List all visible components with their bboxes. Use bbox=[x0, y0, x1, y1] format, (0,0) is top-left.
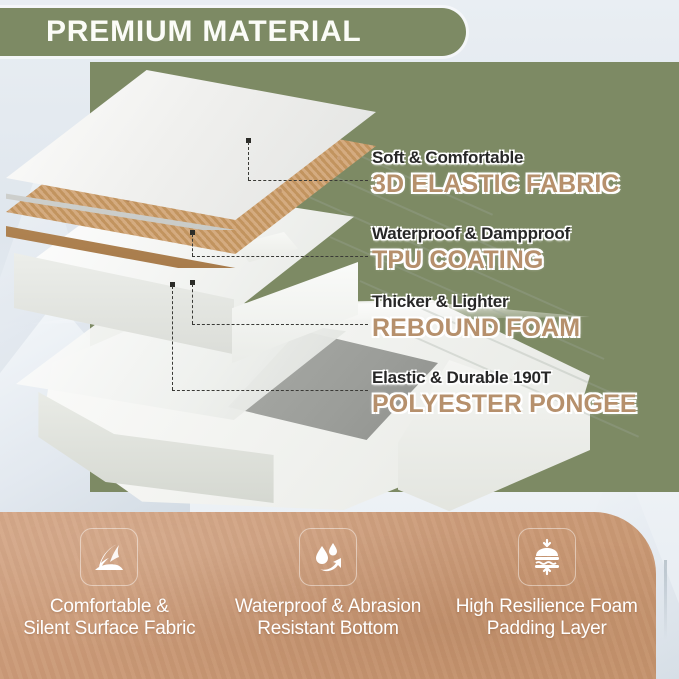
callout-rebound-foam: Thicker & Lighter REBOUND FOAM bbox=[372, 292, 580, 343]
foam-layer-icon bbox=[527, 537, 567, 577]
callout-title: REBOUND FOAM bbox=[372, 314, 580, 343]
leader-line-horizontal bbox=[172, 390, 368, 391]
feature-label: Comfortable & Silent Surface Fabric bbox=[23, 596, 195, 641]
callout-subtitle: Elastic & Durable 190T bbox=[372, 368, 637, 388]
callout-polyester-pongee: Elastic & Durable 190T POLYESTER PONGEE bbox=[372, 368, 637, 419]
feature-item-comfortable-fabric: Comfortable & Silent Surface Fabric bbox=[0, 528, 219, 678]
callout-title: TPU COATING bbox=[372, 246, 570, 275]
leader-line-horizontal bbox=[248, 180, 368, 181]
callout-title: POLYESTER PONGEE bbox=[372, 390, 637, 419]
callout-subtitle: Waterproof & Dampproof bbox=[372, 224, 570, 244]
callout-subtitle: Soft & Comfortable bbox=[372, 148, 620, 168]
leader-line-horizontal bbox=[192, 324, 368, 325]
feature-label: Waterproof & Abrasion Resistant Bottom bbox=[235, 596, 421, 641]
product-infographic: PREMIUM MATERIAL Soft & Comfortable 3D E… bbox=[0, 0, 679, 679]
page-title: PREMIUM MATERIAL bbox=[46, 14, 456, 50]
callout-tpu-coating: Waterproof & Dampproof TPU COATING bbox=[372, 224, 570, 275]
feature-icon-frame bbox=[518, 528, 576, 586]
feature-item-resilience-foam: High Resilience Foam Padding Layer bbox=[437, 528, 656, 678]
feature-list: Comfortable & Silent Surface Fabric Wate… bbox=[0, 528, 656, 678]
leader-line-horizontal bbox=[192, 256, 368, 257]
feature-item-waterproof-bottom: Waterproof & Abrasion Resistant Bottom bbox=[219, 528, 438, 678]
leader-line-vertical bbox=[192, 234, 193, 256]
feature-label: High Resilience Foam Padding Layer bbox=[456, 596, 638, 641]
water-droplet-icon bbox=[308, 537, 348, 577]
leader-line-vertical bbox=[192, 284, 193, 324]
callout-3d-elastic-fabric: Soft & Comfortable 3D ELASTIC FABRIC bbox=[372, 148, 620, 199]
feather-icon bbox=[89, 537, 129, 577]
leader-line-vertical bbox=[248, 142, 249, 180]
feature-icon-frame bbox=[299, 528, 357, 586]
leader-line-vertical bbox=[172, 286, 173, 390]
callout-subtitle: Thicker & Lighter bbox=[372, 292, 580, 312]
feature-icon-frame bbox=[80, 528, 138, 586]
callout-title: 3D ELASTIC FABRIC bbox=[372, 170, 620, 199]
